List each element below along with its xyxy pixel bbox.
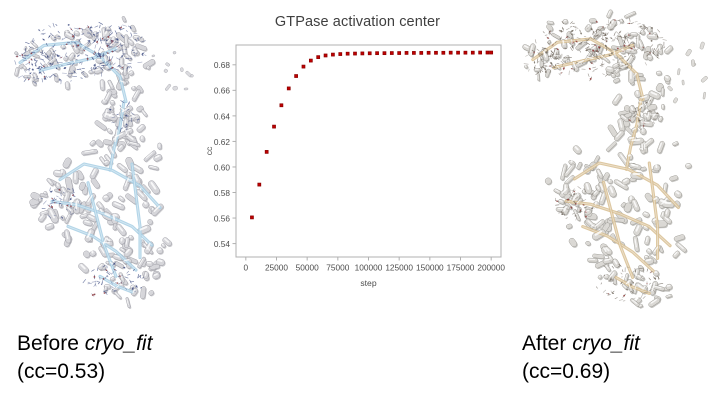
caption-after-program: cryo_fit [572,332,640,355]
atom-sphere [117,282,119,284]
data-point [449,51,452,54]
atom-sphere [114,269,115,270]
atom-sphere [39,72,41,74]
x-tick-label: 200000 [477,263,505,273]
atom-sphere [107,52,108,53]
atom-sphere [35,65,36,66]
atom-bond [88,283,90,284]
plot-title: GTPase activation center [205,14,510,30]
caption-after-line1: After cryo_fit [522,330,640,358]
x-tick-label: 125000 [385,263,413,273]
atom-sphere [655,278,657,280]
atom-bond [49,76,50,77]
atom-sphere [570,207,572,209]
atom-bond [526,55,528,56]
satellite-density-blob [173,51,177,54]
x-tick-label: 150000 [416,263,444,273]
atom-bond [570,22,572,24]
data-point [376,52,379,55]
density-lump [661,88,664,97]
atom-sphere [576,41,578,43]
satellite-density-blob [685,48,692,56]
atom-sphere [98,53,100,55]
atom-bond [616,31,618,33]
atom-bond [566,28,569,30]
atom-sphere [629,23,630,24]
atom-bond [592,71,594,72]
atom-sphere [591,28,593,30]
density-lump-highlight [141,136,143,140]
atom-bond [601,66,603,67]
satellite-density-blob [667,85,673,91]
atom-bond [596,287,597,289]
plot-frame [236,45,501,257]
caption-after-cryo-fit: After cryo_fit (cc=0.69) [522,330,640,386]
atom-bond [622,270,623,272]
atom-sphere [566,37,567,38]
atom-bond [102,281,103,285]
atom-sphere [656,112,658,114]
satellite-density-blob [180,68,183,72]
atom-sphere [109,109,111,111]
atom-sphere [94,64,96,66]
density-lump-highlight [74,173,76,180]
data-point [354,52,357,55]
atom-sphere [598,46,600,48]
atom-sphere [596,51,597,52]
atom-sphere [37,67,39,69]
atom-sphere [571,68,572,69]
atom-bond [641,294,643,297]
atom-sphere [633,282,634,283]
atom-sphere [534,62,535,63]
atom-sphere [90,30,91,31]
caption-after-cc-value: (cc=0.69) [522,358,640,386]
satellite-density-blob [163,68,168,73]
density-lump [136,123,146,133]
atom-sphere [44,76,46,78]
y-tick-label: 0.64 [214,111,231,121]
atom-sphere [651,272,652,273]
cc-convergence-plot: GTPase activation center 0.540.560.580.6… [205,14,510,304]
atom-sphere [555,65,556,66]
atom-bond [643,296,645,298]
atom-sphere [61,217,63,219]
atom-bond [607,33,608,35]
atom-bond [651,45,653,47]
atom-sphere [39,30,40,31]
atom-sphere [110,59,111,60]
atom-bond [543,32,544,33]
atom-bond [53,23,54,27]
satellite-density-blob [152,55,155,57]
atom-sphere [113,263,115,265]
atom-bond [25,42,29,43]
atom-bond [97,43,98,44]
x-tick-label: 100000 [355,263,383,273]
atom-bond [49,26,51,28]
data-point [273,125,276,128]
atom-bond [663,39,667,40]
atom-bond [128,274,130,275]
satellite-density-blob [691,59,695,66]
atom-bond [95,45,96,48]
atom-sphere [28,79,29,80]
satellite-density-blob [703,92,706,99]
atom-sphere [72,35,74,37]
figure-canvas: GTPase activation center 0.540.560.580.6… [0,0,720,409]
atom-sphere [605,45,607,47]
atom-sphere [88,26,89,27]
atom-sphere [573,193,575,195]
density-lump [545,178,552,185]
data-point [339,53,342,56]
atom-sphere [118,65,120,67]
atom-sphere [98,282,99,283]
atom-bond [50,75,52,77]
atom-bond [593,69,597,71]
y-tick-label: 0.62 [214,137,231,147]
data-point [317,56,320,59]
data-series-cc [250,51,492,219]
atom-sphere [112,51,114,53]
density-lump-highlight [631,33,636,34]
atom-sphere [653,53,654,54]
atom-sphere [106,40,108,42]
atom-bond [537,49,539,51]
atom-bond [92,270,95,272]
density-lump [672,250,680,259]
x-axis-label: step [360,278,376,288]
atom-sphere [612,292,614,294]
atom-sphere [90,27,92,29]
atom-sphere [123,267,125,269]
atom-sphere [93,34,95,36]
atom-sphere [611,52,613,54]
atom-bond [138,62,142,63]
density-lump [656,71,662,76]
atom-bond [41,73,42,75]
satellite-density-blob [700,76,708,83]
atom-sphere [66,205,68,207]
data-point [383,52,386,55]
caption-before-prefix: Before [17,332,85,355]
density-lump [103,139,113,145]
atom-sphere [121,282,122,283]
atom-bond [580,51,581,53]
atom-bond [635,21,638,22]
density-lump [133,35,141,40]
atom-bond [620,23,621,24]
atom-sphere [563,67,565,69]
atom-sphere [50,191,52,193]
data-point [287,87,290,90]
atom-sphere [92,58,93,59]
atom-sphere [51,206,53,208]
atom-sphere [93,67,94,68]
caption-after-prefix: After [522,332,572,355]
density-lump [130,24,137,32]
atom-sphere [631,48,633,50]
density-lump-highlight [32,78,33,81]
atom-bond [62,38,63,40]
atom-sphere [49,205,50,206]
data-point [471,51,474,54]
atom-sphere [50,63,52,65]
density-lump-highlight [648,27,650,30]
y-tick-label: 0.68 [214,60,231,70]
density-lump [661,104,664,109]
data-point [331,53,334,56]
atom-bond [605,74,608,76]
atom-sphere [614,19,615,20]
atom-bond [619,300,622,301]
atom-bond [111,56,113,59]
satellite-density-blob [700,42,705,50]
atom-bond [18,76,21,78]
atom-bond [121,28,124,29]
data-point [486,51,489,54]
data-point [390,52,393,55]
atom-sphere [102,38,104,40]
atom-bond [615,297,617,298]
after-cryo-fit-structure [512,4,720,322]
atom-bond [573,213,575,214]
atom-bond [112,287,114,288]
atom-sphere [630,284,631,285]
atom-bond [50,203,53,204]
atom-bond [85,55,87,56]
atom-sphere [583,204,584,205]
atom-sphere [549,65,550,66]
atom-sphere [646,102,648,104]
atom-sphere [609,54,611,56]
atom-bond [65,53,66,56]
density-lump-highlight [589,259,595,260]
atom-sphere [571,34,572,35]
atom-bond [638,24,641,25]
atom-sphere [608,293,609,294]
atom-sphere [84,50,85,51]
atom-bond [43,29,45,30]
atom-sphere [95,67,97,69]
atom-sphere [93,293,95,295]
atom-sphere [93,53,94,54]
atom-sphere [657,36,658,37]
atom-sphere [106,45,108,47]
atom-sphere [107,36,109,38]
y-tick-label: 0.58 [214,188,231,198]
data-point [479,51,482,54]
ribbon-trace [649,163,657,258]
density-lump-highlight [662,105,663,108]
atom-bond [113,63,115,65]
atom-sphere [604,34,606,36]
satellite-density-blob [173,86,178,91]
atom-sphere [103,65,104,66]
density-lump-highlight [107,27,108,29]
atom-bond [127,271,129,273]
atom-bond [601,283,602,284]
atom-sphere [596,21,598,23]
atom-sphere [119,27,121,29]
caption-before-program: cryo_fit [85,332,153,355]
atom-bond [126,30,127,31]
atom-sphere [59,79,61,81]
atom-sphere [49,36,50,37]
atom-bond [603,290,606,292]
atom-sphere [57,55,58,56]
atom-sphere [574,191,575,192]
atom-sphere [72,194,74,196]
atom-sphere [643,47,644,48]
atom-bond [98,39,99,41]
atom-sphere [573,69,574,70]
density-lump [685,163,692,169]
atom-sphere [92,294,94,296]
y-tick-label: 0.54 [214,239,231,249]
y-tick-label: 0.56 [214,213,231,223]
atom-sphere [32,69,34,71]
atom-sphere [71,29,72,30]
data-point [309,59,312,62]
density-lump-highlight [61,169,63,173]
atom-sphere [88,40,90,42]
satellite-density-blob [677,68,680,75]
atom-sphere [70,198,72,200]
atom-bond [109,26,111,28]
atom-bond [145,55,146,56]
atom-bond [41,63,43,66]
atom-bond [63,37,67,39]
atom-sphere [534,67,535,68]
atom-bond [123,25,127,26]
atom-bond [649,283,650,284]
data-point [295,75,298,78]
satellite-density-blob [673,97,679,104]
atom-sphere [106,270,108,272]
atom-sphere [629,120,630,121]
x-tick-label: 175000 [447,263,475,273]
data-point [258,183,261,186]
atom-sphere [611,37,612,38]
density-lump [547,21,554,25]
before-cryo-fit-structure [0,8,200,320]
atom-sphere [651,40,653,42]
atom-sphere [592,50,594,52]
atom-bond [593,31,594,34]
density-lump-highlight [120,58,121,65]
atom-sphere [633,43,634,44]
density-lump-highlight [97,59,102,61]
data-point [346,52,349,55]
data-point [361,52,364,55]
atom-sphere [545,71,547,73]
density-lump-highlight [159,143,160,147]
atom-bond [578,187,581,189]
plot-svg: 0.540.560.580.600.620.640.660.6802500050… [205,42,510,304]
atom-bond [612,266,614,268]
atom-sphere [651,27,653,29]
density-lump [54,73,59,82]
atom-bond [50,188,51,191]
y-tick-label: 0.60 [214,162,231,172]
data-point [427,51,430,54]
data-point [265,150,268,153]
satellite-density-blob [165,84,172,92]
atom-sphere [103,278,105,280]
atom-sphere [93,276,95,278]
after-structure-render [512,4,720,322]
atom-sphere [649,33,650,34]
atom-bond [83,279,86,282]
atom-bond [70,81,71,82]
atom-bond [129,37,131,38]
before-structure-render [0,8,200,320]
atom-sphere [540,54,541,55]
density-lump-highlight [630,71,632,79]
atom-bond [99,22,103,24]
plot-axes: 0.540.560.580.600.620.640.660.6802500050… [205,42,510,304]
atom-sphere [617,48,619,50]
data-point [412,51,415,54]
atom-bond [645,63,646,66]
atom-sphere [580,30,581,31]
x-tick-label: 0 [244,263,249,273]
atom-bond [588,43,590,44]
atom-bond [588,74,589,77]
atom-sphere [61,57,62,58]
atom-sphere [585,216,587,218]
atom-bond [125,277,128,278]
atom-sphere [590,78,592,80]
density-lump-highlight [637,122,638,125]
atom-sphere [96,41,98,43]
atom-bond [621,273,622,274]
data-point [324,54,327,57]
density-lump-highlight [75,200,77,209]
atom-sphere [73,190,74,191]
caption-before-line1: Before cryo_fit [17,330,152,358]
density-lump-highlight [609,179,611,182]
data-point [457,51,460,54]
atom-bond [120,105,121,107]
atom-sphere [125,115,127,117]
atom-bond [46,76,47,78]
atom-sphere [575,215,576,216]
satellite-density-blob [682,80,685,85]
atom-bond [131,33,132,36]
atom-bond [26,63,29,65]
y-axis-label: cc [205,146,214,155]
data-point [250,216,253,219]
atom-sphere [562,28,563,29]
atom-bond [81,78,83,79]
atom-bond [627,40,628,43]
caption-before-cc-value: (cc=0.53) [17,358,152,386]
density-lump [62,157,73,169]
atom-bond [100,30,101,32]
atom-sphere [122,67,123,68]
density-lump [551,33,561,40]
atom-bond [614,32,615,35]
atom-sphere [561,212,562,213]
atom-sphere [132,287,134,289]
atom-bond [117,114,119,115]
density-lump-highlight [633,173,641,175]
atom-bond [602,61,603,64]
atom-bond [642,113,643,114]
